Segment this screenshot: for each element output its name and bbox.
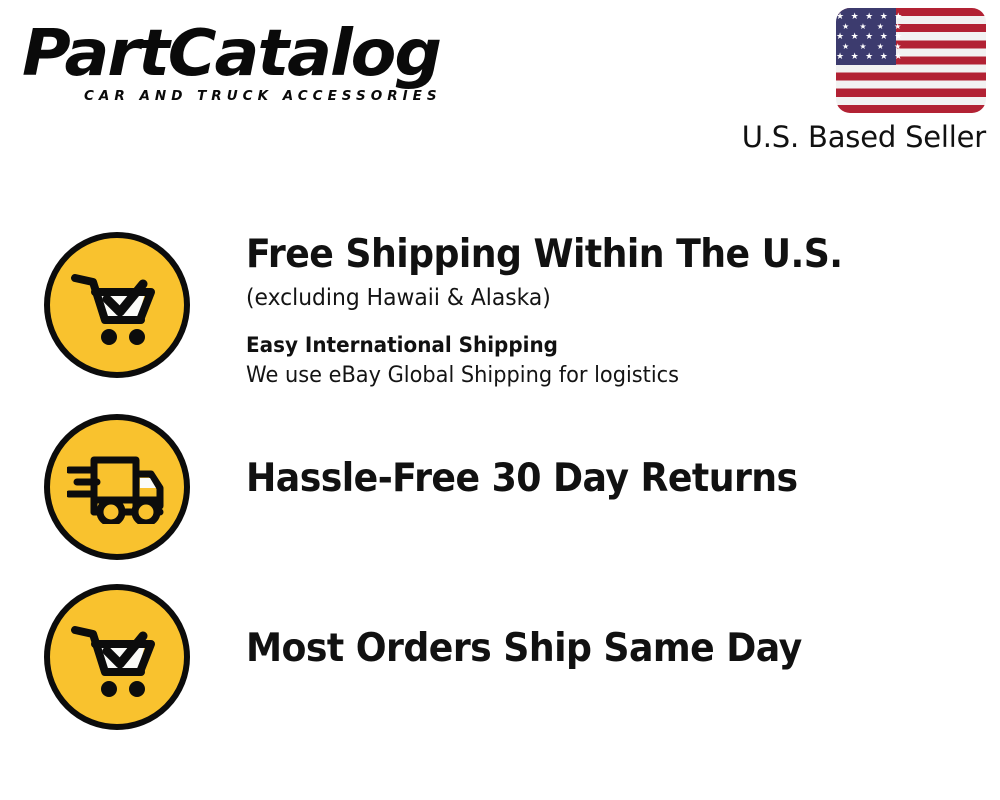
feature-row: Most Orders Ship Same Day <box>0 584 1000 730</box>
flag-star-row: ★ ★ ★ ★ ★ <box>836 51 896 62</box>
cart-check-icon <box>44 584 190 730</box>
page-header: PartCatalog CAR AND TRUCK ACCESSORIES ★ … <box>0 0 1000 170</box>
cart-check-icon <box>44 232 190 378</box>
feature-headline: Most Orders Ship Same Day <box>246 628 947 670</box>
feature-headline: Hassle-Free 30 Day Returns <box>246 458 947 500</box>
delivery-truck-icon <box>44 414 190 560</box>
feature-subline: (excluding Hawaii & Alaska) <box>246 284 962 313</box>
feature-row: Free Shipping Within The U.S. (excluding… <box>0 232 1000 390</box>
feature-text-block: Hassle-Free 30 Day Returns <box>246 414 1000 500</box>
us-flag-icon: ★ ★ ★ ★ ★ ★ ★ ★ ★ ★ ★ ★ ★ ★ ★ ★ ★ ★ ★ ★ … <box>836 8 986 113</box>
feature-row: Hassle-Free 30 Day Returns <box>0 414 1000 560</box>
us-based-seller-badge: ★ ★ ★ ★ ★ ★ ★ ★ ★ ★ ★ ★ ★ ★ ★ ★ ★ ★ ★ ★ … <box>696 8 986 154</box>
feature-subhead-note: We use eBay Global Shipping for logistic… <box>246 362 962 390</box>
feature-text-block: Most Orders Ship Same Day <box>246 584 1000 670</box>
us-based-seller-label: U.S. Based Seller <box>696 120 986 154</box>
feature-headline: Free Shipping Within The U.S. <box>246 234 947 276</box>
flag-canton: ★ ★ ★ ★ ★ ★ ★ ★ ★ ★ ★ ★ ★ ★ ★ ★ ★ ★ ★ ★ … <box>836 8 896 65</box>
feature-subheadline: Easy International Shipping <box>246 333 962 358</box>
feature-text-block: Free Shipping Within The U.S. (excluding… <box>246 232 1000 390</box>
brand-logo[interactable]: PartCatalog CAR AND TRUCK ACCESSORIES <box>22 22 492 104</box>
brand-logo-wordmark: PartCatalog <box>22 22 511 86</box>
